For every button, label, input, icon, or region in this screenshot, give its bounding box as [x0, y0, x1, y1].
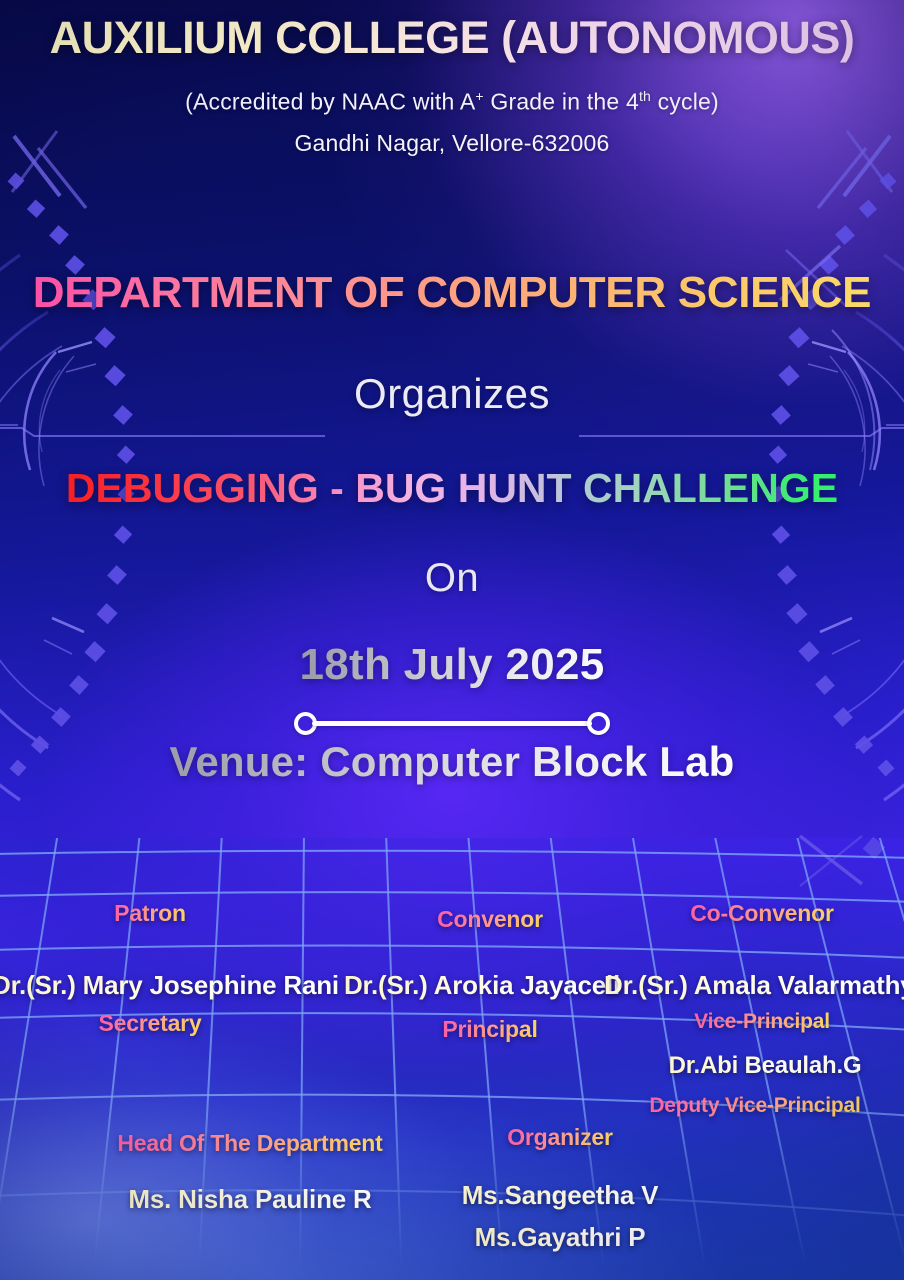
organizer-role: Organizer [410, 1124, 710, 1151]
co-convenor-name-cell: Dr.(Sr.) Amala Valarmathy [604, 968, 904, 1001]
hod-role-cell: Head Of The Department [80, 1130, 420, 1157]
event-title: DEBUGGING - BUG HUNT CHALLENGE [0, 465, 904, 512]
deputy-name: Dr.Abi Beaulah.G [620, 1052, 904, 1080]
accreditation-mid: Grade in the 4 [484, 89, 639, 115]
accreditation-line: (Accredited by NAAC with A+ Grade in the… [0, 88, 904, 116]
divider-dot-right-icon [587, 712, 610, 735]
organizer-name1-cell: Ms.Sangeetha V [410, 1178, 710, 1211]
convenor-name-cell: Dr.(Sr.) Arokia Jayaceli [322, 968, 642, 1001]
accreditation-pre: (Accredited by NAAC with A [185, 89, 475, 115]
department-title: DEPARTMENT OF COMPUTER SCIENCE [0, 268, 904, 318]
patron-subrole-cell: Secretary [0, 1010, 300, 1037]
convenor-role-text: Convenor [437, 906, 543, 933]
patron-role: Patron [0, 900, 300, 927]
venue-text: Venue: Computer Block Lab [169, 738, 734, 786]
event-date-text: 18th July 2025 [299, 640, 604, 690]
patron-subrole: Secretary [0, 1010, 300, 1037]
divider [0, 712, 904, 735]
hod-role: Head Of The Department [80, 1130, 420, 1157]
department-title-text: DEPARTMENT OF COMPUTER SCIENCE [33, 268, 871, 318]
deputy-role-cell: Deputy Vice-Principal [610, 1094, 900, 1118]
organizer-name2-cell: Ms.Gayathri P [410, 1220, 710, 1253]
patron-name-text: Dr.(Sr.) Mary Josephine Rani [0, 970, 339, 1001]
patron-name: Dr.(Sr.) Mary Josephine Rani [0, 970, 322, 1001]
co-convenor-subrole-cell: Vice-Principal [612, 1010, 904, 1034]
hod-name-cell: Ms. Nisha Pauline R [80, 1182, 420, 1215]
divider-line [312, 721, 592, 726]
co-convenor-name-text: Dr.(Sr.) Amala Valarmathy [604, 970, 904, 1001]
organizer-name-1-text: Ms.Sangeetha V [462, 1180, 659, 1211]
people-section: Patron Dr.(Sr.) Mary Josephine Rani Secr… [0, 838, 904, 1280]
convenor-name-text: Dr.(Sr.) Arokia Jayaceli [344, 970, 620, 1001]
convenor-name: Dr.(Sr.) Arokia Jayaceli [322, 970, 642, 1001]
co-convenor-subrole: Vice-Principal [612, 1010, 904, 1034]
accreditation-th: th [639, 88, 651, 104]
accreditation-plus: + [475, 88, 483, 104]
organizer-role-text: Organizer [507, 1124, 613, 1151]
patron-name-cell: Dr.(Sr.) Mary Josephine Rani [0, 968, 322, 1001]
co-convenor-role-text: Co-Convenor [690, 900, 833, 927]
hod-name-text: Ms. Nisha Pauline R [128, 1184, 371, 1215]
accreditation-post: cycle) [651, 89, 719, 115]
co-convenor-name: Dr.(Sr.) Amala Valarmathy [604, 970, 904, 1001]
convenor-role: Convenor [340, 906, 640, 933]
event-title-text: DEBUGGING - BUG HUNT CHALLENGE [66, 465, 838, 512]
organizer-name-2-text: Ms.Gayathri P [475, 1222, 646, 1253]
event-poster: AUXILIUM COLLEGE (AUTONOMOUS) (Accredite… [0, 0, 904, 1280]
organizer-name-2: Ms.Gayathri P [410, 1222, 710, 1253]
on-label: On [0, 556, 904, 601]
deputy-name-text: Dr.Abi Beaulah.G [669, 1052, 862, 1080]
organizer-name-1: Ms.Sangeetha V [410, 1180, 710, 1211]
co-convenor-role-cell: Co-Convenor [612, 900, 904, 927]
deputy-name-cell: Dr.Abi Beaulah.G [620, 1050, 904, 1080]
event-date: 18th July 2025 [0, 640, 904, 690]
organizes-label: Organizes [0, 370, 904, 418]
organizer-role-cell: Organizer [410, 1124, 710, 1151]
convenor-subrole-text: Principal [442, 1016, 537, 1043]
convenor-subrole-cell: Principal [340, 1016, 640, 1043]
hod-role-text: Head Of The Department [117, 1130, 382, 1157]
convenor-subrole: Principal [340, 1016, 640, 1043]
college-title-text: AUXILIUM COLLEGE (AUTONOMOUS) [50, 12, 855, 64]
co-convenor-subrole-text: Vice-Principal [694, 1010, 830, 1034]
deputy-role: Deputy Vice-Principal [610, 1094, 900, 1118]
deputy-role-text: Deputy Vice-Principal [649, 1094, 860, 1118]
venue-label: Venue: Computer Block Lab [0, 738, 904, 786]
college-title: AUXILIUM COLLEGE (AUTONOMOUS) [0, 12, 904, 64]
co-convenor-role: Co-Convenor [612, 900, 904, 927]
patron-role-cell: Patron [0, 900, 300, 927]
patron-subrole-text: Secretary [98, 1010, 201, 1037]
patron-role-text: Patron [114, 900, 186, 927]
hod-name: Ms. Nisha Pauline R [80, 1184, 420, 1215]
convenor-role-cell: Convenor [340, 906, 640, 933]
college-address: Gandhi Nagar, Vellore-632006 [0, 130, 904, 157]
